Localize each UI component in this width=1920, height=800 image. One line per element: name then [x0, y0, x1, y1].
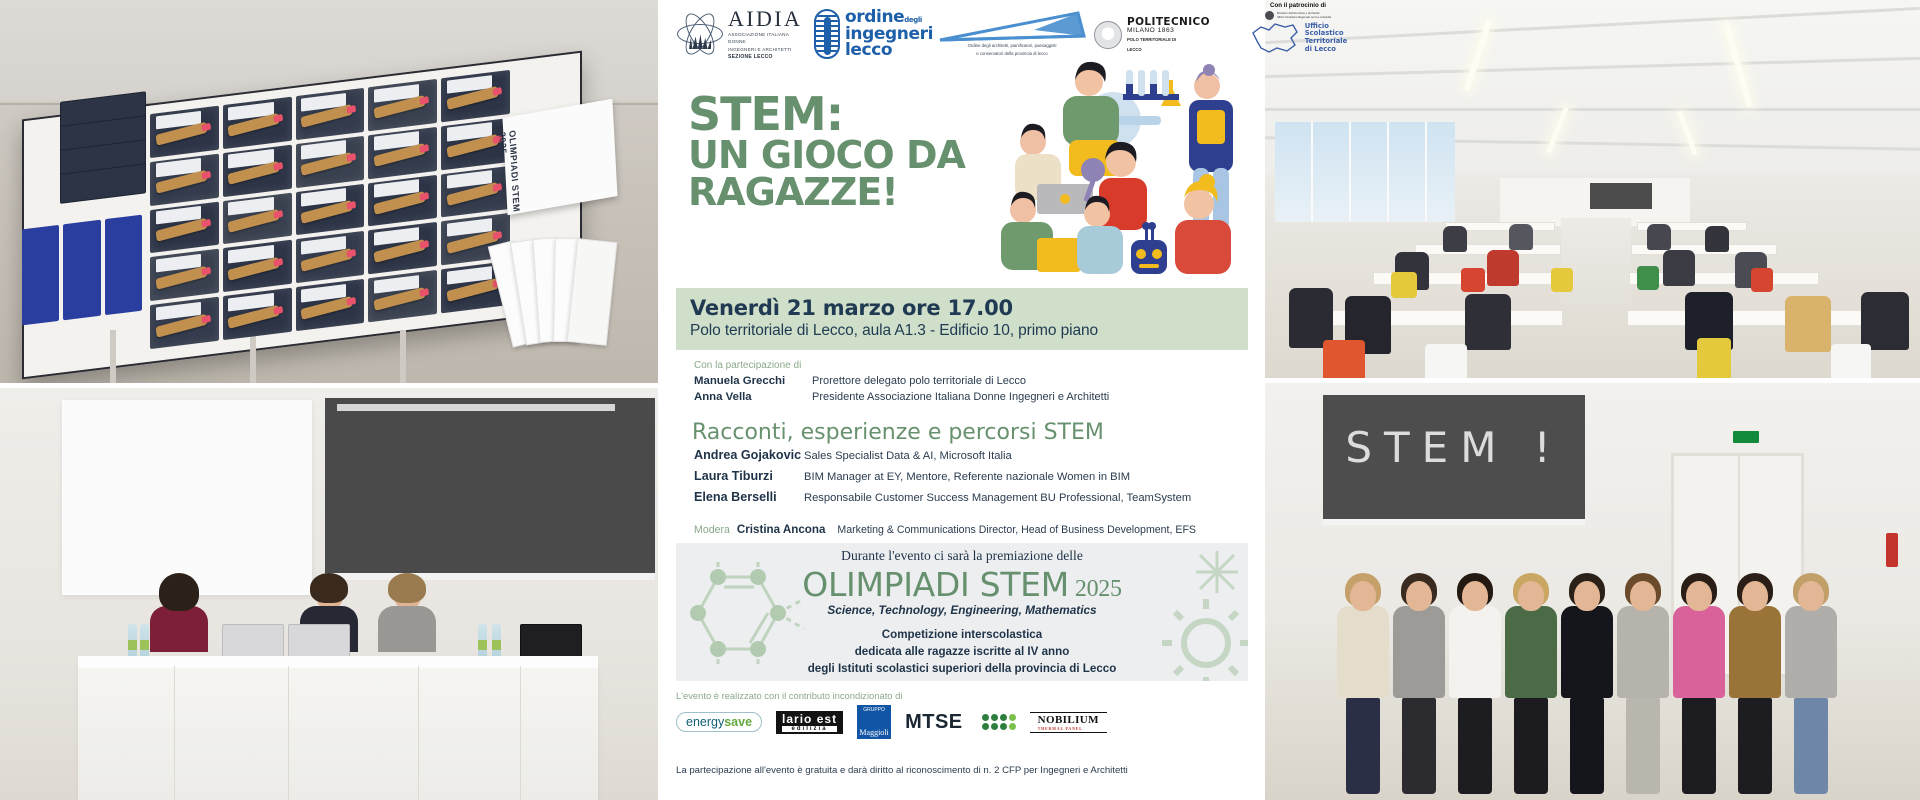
gift-item — [150, 201, 219, 253]
water-bottle — [492, 624, 501, 658]
sponsor-lario-est-logo: lario est edilizia — [776, 711, 843, 734]
moderator-row: Modera Cristina Ancona Marketing & Commu… — [694, 523, 1196, 536]
nobilium-main: NOBILIUM — [1038, 714, 1099, 726]
gift-item — [223, 192, 292, 244]
center-aisle — [1561, 218, 1631, 378]
window-wall — [1275, 122, 1455, 222]
mtse-dots-icon — [982, 714, 1016, 730]
lombardia-map-icon — [1249, 21, 1303, 55]
award-boxes — [22, 215, 142, 326]
olimpiadi-desc1: Competizione interscolastica — [676, 627, 1248, 644]
notebook-stack — [60, 90, 155, 212]
aidia-logo: AIDIA ASSOCIAZIONE ITALIANA DONNE INGEGN… — [676, 8, 808, 60]
event-date: Venerdì 21 marzo ore 17.00 — [690, 296, 1013, 320]
maggioli-main: Maggioli — [859, 728, 888, 737]
sponsor-maggioli-logo: GRUPPO Maggioli — [857, 705, 891, 739]
participant-name: Manuela Grecchi — [694, 375, 812, 387]
speakers-block: Andrea Gojakovic Sales Specialist Data &… — [694, 448, 1254, 511]
speaker-role: BIM Manager at EY, Mentore, Referente na… — [804, 471, 1130, 483]
stem-girls-illustration — [993, 58, 1255, 293]
olimpiadi-subtitle: Science, Technology, Engineering, Mathem… — [676, 603, 1248, 617]
nobilium-sub: THERMAL PANEL — [1038, 726, 1099, 731]
poster-footer-note: La partecipazione all'evento è gratuita … — [676, 765, 1248, 776]
exit-sign-icon — [1733, 431, 1759, 443]
gift-item — [441, 70, 510, 122]
participant-role: Prorettore delegato polo territoriale di… — [812, 375, 1026, 387]
group-person — [1673, 581, 1725, 794]
gift-item — [150, 297, 219, 349]
gift-item — [223, 145, 292, 197]
sponsors-block: L'evento è realizzato con il contributo … — [676, 690, 1248, 739]
politecnico-sub: MILANO 1863 — [1127, 27, 1210, 34]
section-title: Racconti, esperienze e percorsi STEM — [692, 420, 1104, 445]
photo-speakers-panel — [0, 388, 658, 800]
gift-item — [368, 222, 437, 274]
chair — [1637, 266, 1659, 290]
audience-person — [1465, 294, 1511, 350]
speaker-desk — [78, 666, 598, 800]
event-poster: AIDIA ASSOCIAZIONE ITALIANA DONNE INGEGN… — [662, 0, 1263, 800]
group-person — [1617, 581, 1669, 794]
olimpiadi-block: Durante l'evento ci sarà la premiazione … — [676, 543, 1248, 681]
chair — [1461, 268, 1485, 292]
olimpiadi-desc2: dedicata alle ragazze iscritte al IV ann… — [676, 644, 1248, 661]
gift-item — [150, 106, 219, 158]
gift-item — [223, 240, 292, 292]
front-screen — [1590, 183, 1652, 209]
chair — [1323, 340, 1365, 378]
blackboard: STEM ! — [1323, 395, 1585, 525]
moderator-name: Cristina Ancona — [737, 523, 825, 536]
laptop — [520, 624, 582, 658]
patrocinio-block: Con il patrocinio di Ministero dell'Istr… — [1218, 2, 1378, 66]
gift-item — [296, 231, 365, 283]
event-venue: Polo territoriale di Lecco, aula A1.3 - … — [690, 322, 1098, 340]
participant-row: Anna Vella Presidente Associazione Itali… — [694, 391, 1254, 403]
speaker-name: Elena Berselli — [694, 490, 804, 504]
participant-row: Manuela Grecchi Prorettore delegato polo… — [694, 375, 1254, 387]
laptop — [288, 624, 350, 658]
architetti-caption1: Ordine degli architetti, pianificatori, … — [938, 43, 1086, 50]
audience-person — [1443, 226, 1467, 252]
fire-extinguisher-icon — [1886, 533, 1898, 567]
sponsors-heading: L'evento è realizzato con il contributo … — [676, 690, 1248, 701]
date-venue-band: Venerdì 21 marzo ore 17.00 Polo territor… — [676, 288, 1248, 350]
aidia-atom-icon — [676, 10, 724, 58]
audience-person — [1785, 296, 1831, 352]
group-person — [1729, 581, 1781, 794]
water-bottle — [128, 624, 137, 658]
politecnico-logo: POLITECNICO MILANO 1863 POLO TERRITORIAL… — [1094, 12, 1214, 58]
audience-person — [1647, 224, 1671, 250]
chair — [1831, 344, 1871, 378]
gift-item — [223, 288, 292, 340]
olimpiadi-year: 2025 — [1075, 576, 1122, 602]
olimpiadi-title: OLIMPIADI STEM — [802, 565, 1069, 604]
speaker-role: Responsabile Customer Success Management… — [804, 492, 1191, 504]
gift-item — [296, 88, 365, 140]
olimpiadi-pre: Durante l'evento ci sarà la premiazione … — [676, 548, 1248, 564]
title-line-1: STEM: — [688, 92, 988, 137]
architetti-caption2: e conservatori della provincia di lecco — [938, 51, 1086, 58]
gift-item — [368, 174, 437, 226]
speaker-person — [150, 579, 208, 652]
speaker-name: Laura Tiburzi — [694, 469, 804, 483]
olimpiadi-desc3: degli Istituti scolastici superiori dell… — [676, 661, 1248, 678]
title-line-3: RAGAZZE! — [688, 174, 988, 211]
aidia-sub2: INGEGNERI E ARCHITETTI — [728, 47, 808, 54]
projection-screen — [62, 400, 312, 595]
photo-gift-table: OLIMPIADI STEM 2025 — [0, 0, 658, 383]
aidia-sub3: SEZIONE LECCO — [728, 54, 808, 60]
ordine-architetti-logo: Ordine degli architetti, pianificatori, … — [938, 10, 1086, 60]
water-bottle — [478, 624, 487, 658]
aidia-sub1: ASSOCIAZIONE ITALIANA DONNE — [728, 32, 808, 46]
audience-person — [1861, 292, 1909, 350]
lario-main: lario est — [782, 712, 837, 726]
audience-person — [1289, 288, 1333, 348]
blackboard — [325, 398, 655, 580]
speaker-row: Elena Berselli Responsabile Customer Suc… — [694, 490, 1254, 504]
speaker-person — [378, 579, 436, 652]
poster-title: STEM: UN GIOCO DA RAGAZZE! — [688, 92, 988, 212]
ordine-ingegneri-logo: ordinedegli ingegneri lecco — [814, 6, 932, 62]
patrocinio-heading: Con il patrocinio di — [1218, 2, 1378, 9]
group-person — [1393, 581, 1445, 794]
lecco-word: lecco — [845, 42, 933, 59]
chair — [1551, 268, 1573, 292]
photo-group: STEM ! — [1265, 383, 1920, 800]
group-person — [1337, 581, 1389, 794]
politecnico-seal-icon — [1094, 21, 1122, 49]
moderator-label: Modera — [694, 524, 730, 536]
audience-person — [1509, 224, 1533, 250]
speaker-role: Sales Specialist Data & AI, Microsoft It… — [804, 450, 1012, 462]
energysave-part1: energy — [686, 715, 724, 729]
laptop — [222, 624, 284, 658]
participation-heading: Con la partecipazione di — [694, 360, 1254, 371]
gift-item — [223, 97, 292, 149]
sponsor-energysave-logo: energysave — [676, 712, 762, 732]
gift-grid — [150, 70, 510, 349]
gift-item — [368, 79, 437, 131]
collage-stage: OLIMPIADI STEM 2025 — [0, 0, 1920, 800]
chair — [1425, 344, 1467, 378]
group-person — [1785, 581, 1837, 794]
moderator-role: Marketing & Communications Director, Hea… — [837, 524, 1196, 536]
certificate-sheet: OLIMPIADI STEM 2025 — [503, 99, 618, 215]
gift-item — [296, 136, 365, 188]
chair — [1391, 272, 1417, 298]
column-icon — [814, 9, 840, 59]
participant-name: Anna Vella — [694, 391, 812, 403]
blackboard-text: STEM ! — [1323, 423, 1585, 472]
participant-role: Presidente Associazione Italiana Donne I… — [812, 391, 1109, 403]
sponsor-nobilium-logo: NOBILIUM THERMAL PANEL — [1030, 712, 1107, 733]
architetti-mark-icon — [938, 10, 1086, 42]
audience-person — [1487, 250, 1519, 286]
audience-person — [1705, 226, 1729, 252]
ministry-seal-icon — [1265, 11, 1274, 20]
ust-line4: di Lecco — [1305, 46, 1348, 54]
speaker-name: Andrea Gojakovic — [694, 448, 804, 462]
gift-item — [150, 249, 219, 301]
gift-item — [296, 279, 365, 331]
participation-block: Con la partecipazione di Manuela Grecchi… — [694, 360, 1254, 407]
gift-item — [150, 153, 219, 205]
flyer-fan — [500, 238, 620, 348]
speaker-row: Laura Tiburzi BIM Manager at EY, Mentore… — [694, 469, 1254, 483]
ministry-line2: Ufficio Scolastico Regionale per la Lomb… — [1277, 16, 1331, 20]
politecnico-polo2: LECCO — [1127, 47, 1210, 53]
politecnico-name: POLITECNICO — [1127, 17, 1210, 28]
water-bottle — [140, 624, 149, 658]
group-person — [1561, 581, 1613, 794]
certificate-text: OLIMPIADI STEM 2025 — [497, 129, 522, 228]
audience-person — [1663, 250, 1695, 286]
sponsor-mtse-logo: MTSE — [905, 711, 963, 734]
speaker-row: Andrea Gojakovic Sales Specialist Data &… — [694, 448, 1254, 462]
gift-item — [296, 183, 365, 235]
group-person — [1449, 581, 1501, 794]
energysave-part2: save — [724, 715, 752, 729]
aidia-name: AIDIA — [728, 8, 808, 30]
gift-item — [368, 127, 437, 179]
title-line-2: UN GIOCO DA — [688, 137, 988, 174]
lario-sub: edilizia — [782, 726, 837, 732]
group-person — [1505, 581, 1557, 794]
gift-item — [368, 270, 437, 322]
audience-desk — [1627, 310, 1879, 326]
chair — [1751, 268, 1773, 292]
degli-word: degli — [904, 16, 922, 24]
maggioli-top: GRUPPO — [863, 707, 885, 713]
politecnico-polo1: POLO TERRITORIALE DI — [1127, 37, 1210, 43]
chair — [1697, 338, 1731, 378]
